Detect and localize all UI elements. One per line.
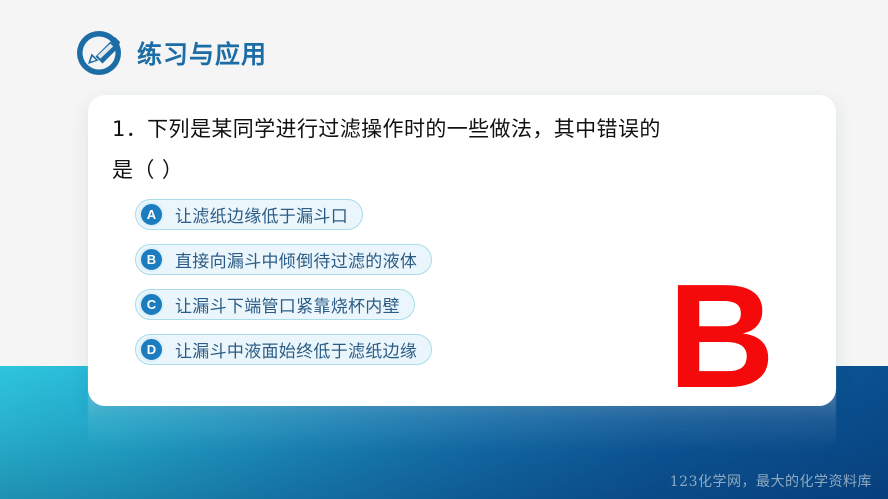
option-d-label: 让漏斗中液面始终低于滤纸边缘 bbox=[175, 337, 417, 362]
option-c[interactable]: C 让漏斗下端管口紧靠烧杯内壁 bbox=[135, 289, 415, 320]
page-title: 练习与应用 bbox=[137, 35, 267, 71]
question-card: 1．下列是某同学进行过滤操作时的一些做法，其中错误的 是（ ） A 让滤纸边缘低… bbox=[88, 95, 836, 406]
option-b-badge: B bbox=[139, 247, 164, 272]
option-b-label: 直接向漏斗中倾倒待过滤的液体 bbox=[175, 247, 417, 272]
option-a-badge: A bbox=[139, 202, 164, 227]
option-a-label: 让滤纸边缘低于漏斗口 bbox=[175, 202, 348, 227]
option-b[interactable]: B 直接向漏斗中倾倒待过滤的液体 bbox=[135, 244, 432, 275]
watermark-text: 123化学网，最大的化学资料库 bbox=[670, 471, 872, 491]
option-c-label: 让漏斗下端管口紧靠烧杯内壁 bbox=[175, 292, 400, 317]
options-list: A 让滤纸边缘低于漏斗口 B 直接向漏斗中倾倒待过滤的液体 C 让漏斗下端管口紧… bbox=[135, 199, 432, 379]
option-c-badge: C bbox=[139, 292, 164, 317]
question-line-2: 是（ ） bbox=[112, 150, 802, 191]
option-a[interactable]: A 让滤纸边缘低于漏斗口 bbox=[135, 199, 363, 230]
slide-stage: 练习与应用 1．下列是某同学进行过滤操作时的一些做法，其中错误的 是（ ） A … bbox=[0, 0, 888, 499]
question-line-1: 1．下列是某同学进行过滤操作时的一些做法，其中错误的 bbox=[112, 109, 802, 150]
question-text: 1．下列是某同学进行过滤操作时的一些做法，其中错误的 是（ ） bbox=[112, 109, 802, 191]
option-d[interactable]: D 让漏斗中液面始终低于滤纸边缘 bbox=[135, 334, 432, 365]
option-d-badge: D bbox=[139, 337, 164, 362]
answer-highlight: B bbox=[668, 263, 775, 411]
pencil-circle-icon bbox=[74, 28, 124, 78]
slide-header: 练习与应用 bbox=[74, 28, 267, 78]
